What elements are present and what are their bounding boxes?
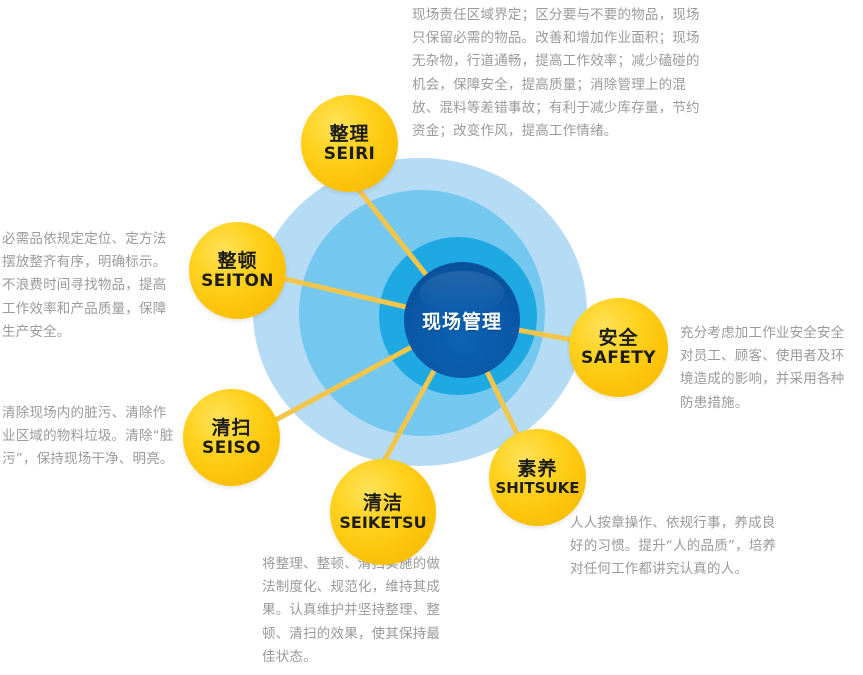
center-node-site-management[interactable]: 现场管理 xyxy=(404,262,520,378)
node-safety-cn-label: 安全 xyxy=(598,328,638,349)
node-seiton[interactable]: 整顿 SEITON xyxy=(189,222,286,319)
node-shitsuke[interactable]: 素养 SHITSUKE xyxy=(489,429,586,526)
node-seiton-romaji-label: SEITON xyxy=(201,272,274,290)
node-seiri-romaji-label: SEIRI xyxy=(324,145,376,163)
node-seiketsu[interactable]: 清洁 SEIKETSU xyxy=(330,459,436,565)
node-safety-romaji-label: SAFETY xyxy=(581,349,656,367)
node-shitsuke-cn-label: 素养 xyxy=(517,459,557,480)
node-seiton-cn-label: 整顿 xyxy=(217,251,257,272)
node-seiketsu-romaji-label: SEIKETSU xyxy=(339,514,426,531)
node-seiri-cn-label: 整理 xyxy=(329,124,369,145)
node-seiso[interactable]: 清扫 SEISO xyxy=(183,389,280,486)
center-node-label: 现场管理 xyxy=(422,307,502,334)
node-seiketsu-cn-label: 清洁 xyxy=(363,493,403,514)
node-safety[interactable]: 安全 SAFETY xyxy=(569,298,668,397)
node-seiso-romaji-label: SEISO xyxy=(202,439,261,457)
node-seiso-cn-label: 清扫 xyxy=(211,418,251,439)
five-s-diagram: 现场管理 整理 SEIRI 整顿 SEITON 清扫 SEISO 清洁 SEIK… xyxy=(0,0,863,675)
node-seiri[interactable]: 整理 SEIRI xyxy=(301,95,398,192)
node-shitsuke-romaji-label: SHITSUKE xyxy=(495,480,579,496)
